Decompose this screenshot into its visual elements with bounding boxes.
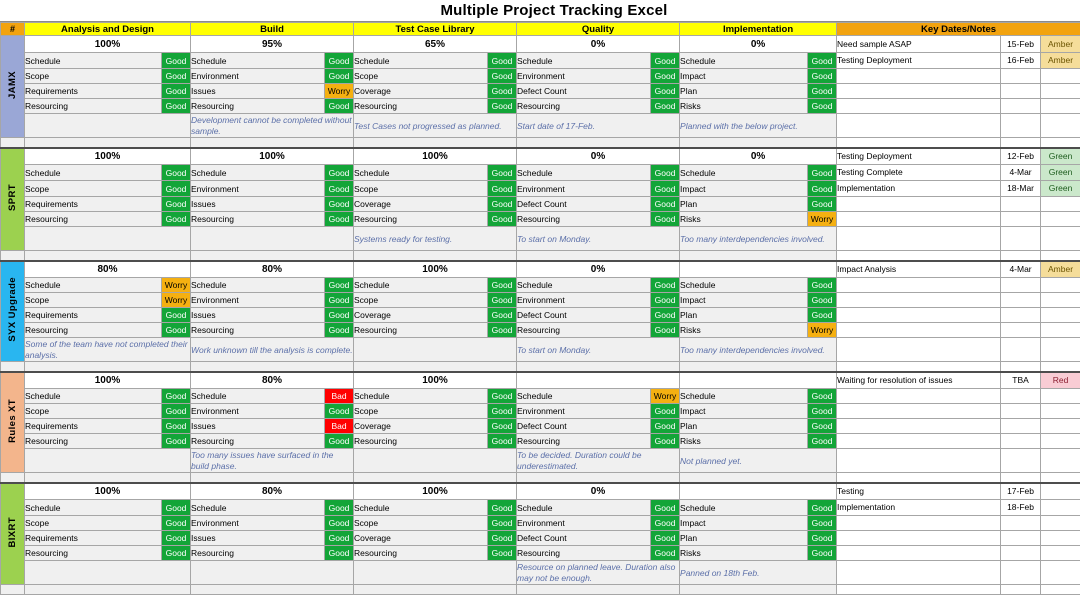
project-percent-row: Rules XT100%80%100%Waiting for resolutio… <box>1 372 1080 389</box>
criterion-status: Good <box>325 181 354 197</box>
criterion-status: Good <box>808 69 837 84</box>
criterion-status: Good <box>162 546 191 561</box>
key-date-date <box>1001 473 1041 483</box>
phase-comment-text: Test Cases not progressed as planned. <box>354 120 516 132</box>
criterion-label: Issues <box>191 531 325 546</box>
spacer-cell <box>680 251 837 261</box>
key-date-status <box>1041 69 1080 84</box>
criterion-status: Good <box>651 500 680 516</box>
key-date-note <box>837 546 1001 561</box>
criterion-label: Resourcing <box>191 99 325 114</box>
key-date-date <box>1001 197 1041 212</box>
criterion-label: Defect Count <box>517 197 651 212</box>
spacer-cell <box>680 362 837 372</box>
criterion-status: Good <box>651 53 680 69</box>
phase-percent <box>517 372 680 389</box>
project-percent-row: SYX Upgrade80%80%100%0%Impact Analysis4-… <box>1 261 1080 278</box>
phase-percent: 100% <box>191 148 354 165</box>
spacer-row <box>1 251 1080 261</box>
key-date-note <box>837 99 1001 114</box>
key-date-date <box>1001 308 1041 323</box>
phase-comment-text: To be decided. Duration could be underes… <box>517 449 679 472</box>
key-date-status <box>1041 419 1080 434</box>
criterion-label: Resourcing <box>25 99 162 114</box>
project-label-jamx: JAMX <box>1 36 25 138</box>
criterion-status: Worry <box>651 389 680 404</box>
spacer-cell <box>680 138 837 148</box>
project-label-text: BIXRT <box>7 517 18 548</box>
phase-percent: 100% <box>354 483 517 500</box>
criterion-label: Scope <box>25 404 162 419</box>
criterion-label: Scope <box>354 404 488 419</box>
criterion-label: Resourcing <box>517 212 651 227</box>
phase-comment-text: Not planned yet. <box>680 455 836 467</box>
spacer-cell <box>517 473 680 483</box>
phase-comment: Too many issues have surfaced in the bui… <box>191 449 354 473</box>
criterion-status: Good <box>488 84 517 99</box>
spacer-cell <box>191 138 354 148</box>
project-percent-row: SPRT100%100%100%0%0%Testing Deployment12… <box>1 148 1080 165</box>
phase-comment: Development cannot be completed without … <box>191 114 354 138</box>
criteria-row: ResourcingGoodResourcingGoodResourcingGo… <box>1 434 1080 449</box>
criterion-status: Good <box>651 212 680 227</box>
key-date-date: 17-Feb <box>1001 483 1041 500</box>
criteria-row: ScopeGoodEnvironmentGoodScopeGoodEnviron… <box>1 404 1080 419</box>
criterion-label: Schedule <box>680 165 808 181</box>
criterion-status: Good <box>651 308 680 323</box>
phase-percent: 100% <box>25 148 191 165</box>
phase-comment-text <box>354 460 516 461</box>
key-date-status <box>1041 404 1080 419</box>
criterion-label: Schedule <box>191 165 325 181</box>
key-date-status <box>1041 99 1080 114</box>
key-date-status <box>1041 293 1080 308</box>
criterion-status: Good <box>808 516 837 531</box>
phase-comment <box>354 449 517 473</box>
phase-comment: Some of the team have not completed thei… <box>25 338 191 362</box>
phase-comment-text <box>354 349 516 350</box>
phase-comment: Too many interdependencies involved. <box>680 338 837 362</box>
key-date-note <box>837 362 1001 372</box>
phase-percent: 100% <box>354 261 517 278</box>
key-date-date <box>1001 69 1041 84</box>
criterion-label: Issues <box>191 419 325 434</box>
phase-comment: Work unknown till the analysis is comple… <box>191 338 354 362</box>
criteria-row: ScopeGoodEnvironmentGoodScopeGoodEnviron… <box>1 69 1080 84</box>
criterion-label: Impact <box>680 404 808 419</box>
criterion-status: Good <box>651 419 680 434</box>
spacer-cell <box>191 251 354 261</box>
criterion-label: Schedule <box>354 389 488 404</box>
phase-percent: 0% <box>517 261 680 278</box>
criterion-label: Resourcing <box>517 99 651 114</box>
criterion-label: Coverage <box>354 197 488 212</box>
project-label-rules-xt: Rules XT <box>1 372 25 473</box>
criterion-label: Schedule <box>25 278 162 293</box>
key-date-note <box>837 449 1001 473</box>
phase-comment: To start on Monday. <box>517 338 680 362</box>
phase-comment: To start on Monday. <box>517 227 680 251</box>
phase-comment <box>25 227 191 251</box>
criterion-status: Good <box>651 434 680 449</box>
criterion-label: Schedule <box>517 389 651 404</box>
criterion-label: Schedule <box>25 500 162 516</box>
phase-comment <box>25 561 191 585</box>
criterion-label: Scope <box>25 516 162 531</box>
key-date-date: TBA <box>1001 372 1041 389</box>
criterion-status: Good <box>651 546 680 561</box>
criterion-label: Scope <box>25 293 162 308</box>
criterion-status: Good <box>651 197 680 212</box>
project-label-text: Rules XT <box>7 399 18 443</box>
key-date-note <box>837 212 1001 227</box>
key-date-status <box>1041 362 1080 372</box>
key-date-note <box>837 434 1001 449</box>
project-label-text: SYX Upgrade <box>7 277 18 342</box>
criterion-label: Environment <box>191 69 325 84</box>
criterion-label: Schedule <box>680 500 808 516</box>
key-date-note: Testing Deployment <box>837 148 1001 165</box>
phase-percent: 80% <box>191 372 354 389</box>
criterion-status: Good <box>651 531 680 546</box>
criterion-label: Coverage <box>354 531 488 546</box>
spacer-left <box>1 473 25 483</box>
phase-comment-text <box>191 238 353 239</box>
criterion-label: Requirements <box>25 531 162 546</box>
key-date-status <box>1041 546 1080 561</box>
project-tracking-sheet: Multiple Project Tracking Excel #Analysi… <box>0 0 1080 500</box>
criterion-label: Environment <box>191 516 325 531</box>
criteria-row: ScopeGoodEnvironmentGoodScopeGoodEnviron… <box>1 516 1080 531</box>
key-date-date <box>1001 546 1041 561</box>
key-date-date <box>1001 138 1041 148</box>
key-date-date <box>1001 419 1041 434</box>
criteria-row: ScopeWorryEnvironmentGoodScopeGoodEnviro… <box>1 293 1080 308</box>
criterion-label: Schedule <box>25 165 162 181</box>
key-date-date: 18-Mar <box>1001 181 1041 197</box>
comment-row: Too many issues have surfaced in the bui… <box>1 449 1080 473</box>
criterion-status: Worry <box>162 278 191 293</box>
key-date-date <box>1001 293 1041 308</box>
key-date-status: Green <box>1041 148 1080 165</box>
criterion-status: Good <box>488 404 517 419</box>
project-percent-row: JAMX100%95%65%0%0%Need sample ASAP15-Feb… <box>1 36 1080 53</box>
criterion-label: Risks <box>680 434 808 449</box>
criterion-status: Good <box>325 165 354 181</box>
criterion-label: Schedule <box>680 389 808 404</box>
criterion-status: Good <box>325 404 354 419</box>
key-date-note: Testing <box>837 483 1001 500</box>
project-label-bixrt: BIXRT <box>1 483 25 585</box>
spacer-cell <box>517 585 680 595</box>
criterion-status: Good <box>162 419 191 434</box>
criterion-label: Impact <box>680 516 808 531</box>
key-date-note: Implementation <box>837 181 1001 197</box>
criterion-status: Good <box>651 404 680 419</box>
key-date-note <box>837 389 1001 404</box>
phase-comment-text: Work unknown till the analysis is comple… <box>191 344 353 356</box>
page-title: Multiple Project Tracking Excel <box>440 2 667 19</box>
spacer-cell <box>517 138 680 148</box>
key-date-date <box>1001 585 1041 595</box>
criterion-label: Schedule <box>517 165 651 181</box>
project-label-text: SPRT <box>7 184 18 211</box>
criterion-label: Resourcing <box>354 323 488 338</box>
key-date-status <box>1041 483 1080 500</box>
key-date-note <box>837 293 1001 308</box>
column-header-row: #Analysis and DesignBuildTest Case Libra… <box>1 23 1080 36</box>
key-date-note <box>837 338 1001 362</box>
criterion-label: Defect Count <box>517 308 651 323</box>
criteria-row: ScheduleGoodScheduleGoodScheduleGoodSche… <box>1 165 1080 181</box>
criterion-label: Risks <box>680 99 808 114</box>
criteria-row: ScopeGoodEnvironmentGoodScopeGoodEnviron… <box>1 181 1080 197</box>
spacer-cell <box>354 138 517 148</box>
spacer-cell <box>517 362 680 372</box>
criteria-row: RequirementsGoodIssuesGoodCoverageGoodDe… <box>1 308 1080 323</box>
criterion-label: Resourcing <box>191 323 325 338</box>
criterion-label: Resourcing <box>354 546 488 561</box>
spacer-row <box>1 473 1080 483</box>
key-date-note: Implementation <box>837 500 1001 516</box>
spacer-cell <box>191 585 354 595</box>
criteria-row: ResourcingGoodResourcingGoodResourcingGo… <box>1 212 1080 227</box>
criterion-status: Good <box>488 546 517 561</box>
criterion-label: Schedule <box>517 500 651 516</box>
criterion-label: Environment <box>191 293 325 308</box>
criterion-status: Good <box>808 278 837 293</box>
criterion-label: Requirements <box>25 84 162 99</box>
key-date-note <box>837 308 1001 323</box>
header-key-dates: Key Dates/Notes <box>837 23 1080 36</box>
criteria-row: RequirementsGoodIssuesGoodCoverageGoodDe… <box>1 531 1080 546</box>
phase-comment-text: Development cannot be completed without … <box>191 114 353 137</box>
spacer-cell <box>354 585 517 595</box>
phase-comment-text <box>191 572 353 573</box>
key-date-status: Green <box>1041 165 1080 181</box>
key-date-date <box>1001 114 1041 138</box>
phase-percent: 80% <box>191 261 354 278</box>
criterion-status: Good <box>808 419 837 434</box>
key-date-note <box>837 585 1001 595</box>
key-date-note <box>837 323 1001 338</box>
key-date-date <box>1001 278 1041 293</box>
criterion-label: Scope <box>354 293 488 308</box>
key-date-date <box>1001 561 1041 585</box>
criterion-label: Resourcing <box>354 212 488 227</box>
key-date-note <box>837 278 1001 293</box>
key-date-note: Need sample ASAP <box>837 36 1001 53</box>
spacer-cell <box>354 362 517 372</box>
criterion-status: Good <box>651 84 680 99</box>
key-date-date <box>1001 404 1041 419</box>
phase-comment-text: Too many interdependencies involved. <box>680 344 836 356</box>
criterion-status: Good <box>325 500 354 516</box>
criterion-status: Good <box>808 53 837 69</box>
project-label-syx-upgrade: SYX Upgrade <box>1 261 25 362</box>
phase-comment <box>191 227 354 251</box>
phase-comment-text: Some of the team have not completed thei… <box>25 338 190 361</box>
criterion-label: Resourcing <box>25 546 162 561</box>
criterion-status: Good <box>651 278 680 293</box>
key-date-note: Testing Complete <box>837 165 1001 181</box>
criterion-status: Good <box>488 278 517 293</box>
criterion-status: Good <box>325 323 354 338</box>
criteria-row: RequirementsGoodIssuesGoodCoverageGoodDe… <box>1 197 1080 212</box>
phase-comment-text <box>25 572 190 573</box>
key-date-status <box>1041 585 1080 595</box>
key-date-note <box>837 69 1001 84</box>
phase-comment-text: Too many interdependencies involved. <box>680 233 836 245</box>
criterion-label: Schedule <box>354 278 488 293</box>
key-date-status: Amber <box>1041 36 1080 53</box>
criterion-status: Good <box>162 434 191 449</box>
criterion-status: Good <box>325 516 354 531</box>
phase-comment <box>354 338 517 362</box>
spacer-cell <box>25 473 191 483</box>
phase-percent <box>680 261 837 278</box>
criterion-label: Schedule <box>354 53 488 69</box>
phase-percent <box>680 483 837 500</box>
spacer-cell <box>191 473 354 483</box>
phase-percent: 100% <box>354 148 517 165</box>
phase-percent: 0% <box>680 36 837 53</box>
criterion-status: Good <box>325 308 354 323</box>
spacer-cell <box>680 473 837 483</box>
criteria-row: ScheduleGoodScheduleGoodScheduleGoodSche… <box>1 53 1080 69</box>
phase-comment: Not planned yet. <box>680 449 837 473</box>
key-date-status <box>1041 516 1080 531</box>
key-date-status <box>1041 251 1080 261</box>
criterion-label: Scope <box>354 181 488 197</box>
criterion-label: Resourcing <box>25 323 162 338</box>
criterion-label: Risks <box>680 323 808 338</box>
phase-comment: Resource on planned leave. Duration also… <box>517 561 680 585</box>
key-date-date <box>1001 434 1041 449</box>
sheet-title-bar: Multiple Project Tracking Excel <box>0 0 1080 22</box>
criterion-label: Coverage <box>354 419 488 434</box>
phase-comment-text: Resource on planned leave. Duration also… <box>517 561 679 584</box>
key-date-note <box>837 84 1001 99</box>
key-date-status <box>1041 561 1080 585</box>
phase-comment <box>354 561 517 585</box>
key-date-status: Amber <box>1041 53 1080 69</box>
phase-percent: 100% <box>354 372 517 389</box>
criterion-label: Environment <box>517 516 651 531</box>
key-date-date <box>1001 362 1041 372</box>
phase-comment-text <box>25 238 190 239</box>
spacer-left <box>1 585 25 595</box>
phase-percent: 0% <box>680 148 837 165</box>
key-date-note <box>837 227 1001 251</box>
spacer-cell <box>25 585 191 595</box>
phase-comment <box>191 561 354 585</box>
criterion-label: Defect Count <box>517 531 651 546</box>
key-date-date <box>1001 389 1041 404</box>
key-date-date <box>1001 516 1041 531</box>
criterion-label: Plan <box>680 531 808 546</box>
criterion-label: Requirements <box>25 419 162 434</box>
spacer-cell <box>517 251 680 261</box>
key-date-status <box>1041 338 1080 362</box>
phase-percent: 80% <box>191 483 354 500</box>
criteria-row: ResourcingGoodResourcingGoodResourcingGo… <box>1 546 1080 561</box>
criterion-status: Good <box>162 53 191 69</box>
criterion-status: Good <box>488 99 517 114</box>
project-percent-row: BIXRT100%80%100%0%Testing17-Feb <box>1 483 1080 500</box>
criterion-label: Scope <box>25 181 162 197</box>
criterion-status: Good <box>488 53 517 69</box>
criterion-status: Good <box>488 308 517 323</box>
phase-percent: 0% <box>517 148 680 165</box>
criterion-status: Good <box>162 516 191 531</box>
header-phase-1: Build <box>191 23 354 36</box>
criterion-status: Good <box>651 69 680 84</box>
criterion-status: Good <box>488 419 517 434</box>
phase-percent: 100% <box>25 36 191 53</box>
criterion-label: Coverage <box>354 84 488 99</box>
criteria-row: ScheduleGoodScheduleGoodScheduleGoodSche… <box>1 500 1080 516</box>
phase-percent: 80% <box>25 261 191 278</box>
spacer-left <box>1 251 25 261</box>
criterion-status: Good <box>325 531 354 546</box>
key-date-status <box>1041 114 1080 138</box>
criterion-status: Good <box>808 99 837 114</box>
criterion-label: Schedule <box>25 389 162 404</box>
criterion-label: Schedule <box>191 53 325 69</box>
key-date-date: 15-Feb <box>1001 36 1041 53</box>
criterion-label: Schedule <box>354 165 488 181</box>
criterion-status: Bad <box>325 419 354 434</box>
spacer-cell <box>680 585 837 595</box>
key-date-status <box>1041 308 1080 323</box>
key-date-date <box>1001 449 1041 473</box>
key-date-status <box>1041 212 1080 227</box>
criterion-status: Good <box>162 84 191 99</box>
criterion-status: Good <box>325 99 354 114</box>
key-date-status <box>1041 227 1080 251</box>
key-date-status <box>1041 389 1080 404</box>
key-date-status: Amber <box>1041 261 1080 278</box>
key-date-status <box>1041 197 1080 212</box>
phase-comment: Start date of 17-Feb. <box>517 114 680 138</box>
criterion-status: Good <box>488 181 517 197</box>
phase-comment-text <box>25 460 190 461</box>
criterion-label: Resourcing <box>517 546 651 561</box>
criterion-status: Good <box>488 516 517 531</box>
project-label-sprt: SPRT <box>1 148 25 251</box>
spacer-left <box>1 362 25 372</box>
phase-comment-text: Too many issues have surfaced in the bui… <box>191 449 353 472</box>
comment-row: Systems ready for testing.To start on Mo… <box>1 227 1080 251</box>
criterion-status: Bad <box>325 389 354 404</box>
criterion-status: Good <box>325 53 354 69</box>
tracking-grid: #Analysis and DesignBuildTest Case Libra… <box>0 22 1080 595</box>
criterion-status: Good <box>162 500 191 516</box>
phase-comment-text <box>354 572 516 573</box>
criterion-label: Coverage <box>354 308 488 323</box>
key-date-date: 18-Feb <box>1001 500 1041 516</box>
key-date-status <box>1041 473 1080 483</box>
criterion-status: Good <box>651 323 680 338</box>
criterion-status: Good <box>808 500 837 516</box>
criteria-row: ScheduleWorryScheduleGoodScheduleGoodSch… <box>1 278 1080 293</box>
criterion-status: Good <box>162 323 191 338</box>
criterion-label: Resourcing <box>191 434 325 449</box>
criterion-label: Environment <box>191 404 325 419</box>
criterion-status: Good <box>808 308 837 323</box>
key-date-date <box>1001 323 1041 338</box>
